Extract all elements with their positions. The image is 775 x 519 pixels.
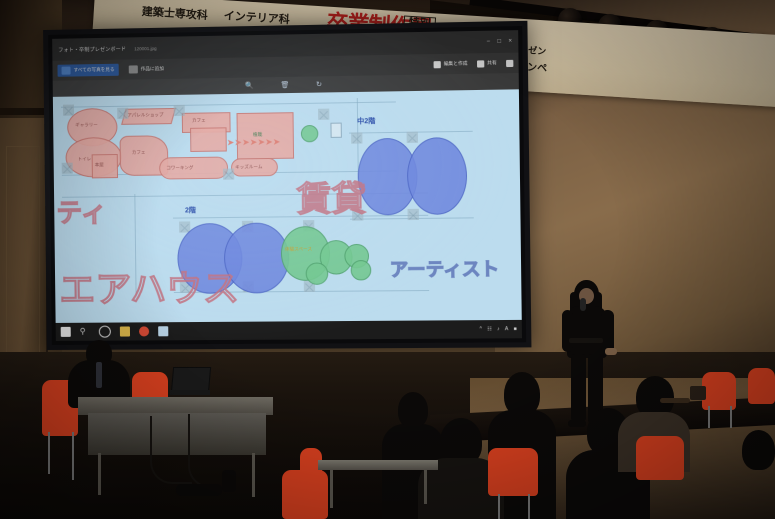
notification-icon[interactable]: ■	[513, 326, 516, 332]
view-all-photos-button[interactable]: すべての写真を見る	[57, 64, 118, 77]
presenter-shoe	[568, 420, 586, 427]
explorer-icon[interactable]	[120, 326, 130, 336]
photos-icon[interactable]	[158, 326, 168, 336]
floor-cable-coil	[660, 398, 690, 403]
chair-audience	[282, 470, 328, 519]
ime-icon[interactable]: A	[505, 326, 509, 332]
chair-leg	[72, 432, 74, 480]
overlay-community-tail: ティ	[56, 192, 107, 230]
banner-dept-2: インテリア科	[223, 7, 290, 27]
plan-green-dot	[301, 125, 319, 142]
chair-audience	[488, 448, 538, 496]
desk-leg	[252, 453, 255, 497]
window-controls[interactable]: − □ ×	[486, 38, 512, 45]
delete-icon[interactable]: 🗑	[280, 81, 289, 89]
overlay-airhouse: エアハウス	[59, 259, 240, 313]
audience-head	[742, 430, 775, 470]
hatch-marker	[223, 169, 234, 180]
photo-scene: 建築士専攻科 インテリア科 卒業制作展 協賛 東北文化学園専門学校同窓会 特別 …	[0, 0, 775, 519]
volume-icon[interactable]: ♪	[497, 326, 500, 332]
guide-line	[61, 101, 396, 107]
cortana-icon[interactable]	[99, 326, 111, 338]
chair-leg	[48, 432, 50, 474]
floor-equipment	[176, 484, 222, 496]
floor2-ellipse-green-sm3	[306, 262, 329, 284]
chair-leg	[708, 406, 710, 428]
projection-screen: フォト・卒制プレゼンボード 120001.jpg − □ × すべての写真を見る…	[43, 21, 531, 350]
share-icon	[477, 60, 484, 67]
add-to-album-button[interactable]: 作品に追加	[129, 65, 164, 74]
hatch-marker	[351, 132, 362, 143]
close-icon[interactable]: ×	[508, 38, 512, 44]
audience-head	[398, 392, 428, 428]
presenter-arm-left	[562, 310, 573, 352]
chair-leg	[498, 494, 500, 519]
plan-label-kids: キッズルーム	[235, 164, 262, 170]
edit-create-button[interactable]: 編集と作成	[433, 60, 467, 68]
app-file-name: 120001.jpg	[134, 45, 157, 50]
command-bar-right-group: 編集と作成 共有	[433, 59, 513, 68]
floor-tag-mezzanine: 中2階	[357, 116, 376, 126]
tray-expand-icon[interactable]: ^	[480, 326, 483, 332]
plan-label-bookstore: 本屋	[95, 162, 104, 168]
rotate-icon[interactable]: ↻	[316, 80, 322, 88]
album-icon	[129, 65, 138, 73]
table-leg	[424, 470, 427, 504]
overlay-artist: アーティスト	[390, 255, 500, 282]
edit-create-label: 編集と作成	[444, 61, 468, 68]
add-to-album-label: 作品に追加	[141, 66, 164, 72]
photos-icon	[61, 67, 70, 75]
plan-label-cafe1: カフェ	[192, 118, 206, 124]
hatch-marker	[117, 108, 128, 119]
presenter-hand-right	[605, 348, 617, 355]
print-icon	[506, 59, 513, 66]
hatch-marker	[63, 105, 74, 116]
system-tray[interactable]: ^ ☷ ♪ A ■	[480, 326, 517, 332]
hatch-marker	[62, 163, 73, 174]
hatch-marker	[318, 109, 329, 120]
overlay-rent: 賃貸	[296, 171, 366, 221]
plan-label-toilet: トイレ	[78, 156, 92, 162]
plan-label-coworking: コワーキング	[166, 165, 193, 171]
search-icon[interactable]: ⚲	[80, 327, 90, 337]
presenter-belt	[569, 338, 603, 343]
table-leg	[330, 470, 333, 508]
desk-leg	[98, 453, 101, 495]
plan-room-small	[330, 123, 341, 138]
hatch-marker	[408, 209, 419, 220]
circulation-arrows: ➤➤➤➤➤➤➤	[227, 138, 281, 148]
plan-label-gallery: ギャラリー	[75, 122, 98, 128]
chair-leg	[528, 494, 530, 519]
plan-label-cafe2: カフェ	[132, 150, 146, 156]
floor-cable	[188, 414, 216, 488]
plan-label-apparel: アパレルショップ	[127, 112, 163, 119]
plan-label-experience: 体験スペース	[285, 246, 312, 252]
floor-bracket	[690, 386, 706, 400]
chair-audience	[702, 372, 736, 410]
chair-audience	[636, 436, 684, 480]
print-button[interactable]	[506, 59, 513, 66]
operator-tie	[96, 362, 102, 388]
plan-room-green-block	[236, 112, 294, 159]
zoom-icon[interactable]: 🔍	[245, 82, 254, 90]
hatch-marker	[174, 105, 185, 116]
microphone	[580, 298, 586, 311]
minimize-icon[interactable]: −	[486, 39, 490, 45]
share-label: 共有	[487, 60, 497, 66]
mezzanine-ellipse-right	[407, 137, 468, 215]
floor-tag-2f: 2階	[185, 205, 196, 215]
floor-equipment	[222, 470, 236, 492]
app-title: フォト・卒制プレゼンボード	[58, 45, 126, 53]
banner-dept-1: 建築士専攻科	[141, 3, 208, 23]
network-icon[interactable]: ☷	[487, 326, 492, 332]
presenter-leg-left	[571, 354, 586, 422]
slide-canvas: ギャラリー トイレ アパレルショップ カフェ カフェ 本屋 コワーキング キッズ…	[53, 89, 522, 323]
chair-audience	[748, 368, 775, 404]
side-door	[0, 118, 48, 368]
chair-leg	[730, 406, 732, 428]
share-button[interactable]: 共有	[477, 60, 497, 67]
edit-icon	[433, 61, 440, 68]
floor2-ellipse-green-sm2	[351, 260, 372, 280]
view-all-photos-label: すべての写真を見る	[74, 67, 115, 74]
door-header	[0, 108, 48, 115]
floor-cable	[150, 416, 192, 484]
maximize-icon[interactable]: □	[497, 39, 501, 45]
hatch-marker	[407, 132, 418, 143]
start-icon[interactable]	[61, 327, 71, 337]
projected-desktop: フォト・卒制プレゼンボード 120001.jpg − □ × すべての写真を見る…	[52, 30, 522, 341]
plan-room-cafe1b	[190, 127, 227, 152]
audience-table	[318, 460, 438, 470]
laptop-keyboard	[170, 390, 210, 395]
chrome-icon[interactable]	[139, 326, 149, 336]
windows-taskbar: ⚲ ^ ☷ ♪ A ■	[56, 320, 522, 341]
